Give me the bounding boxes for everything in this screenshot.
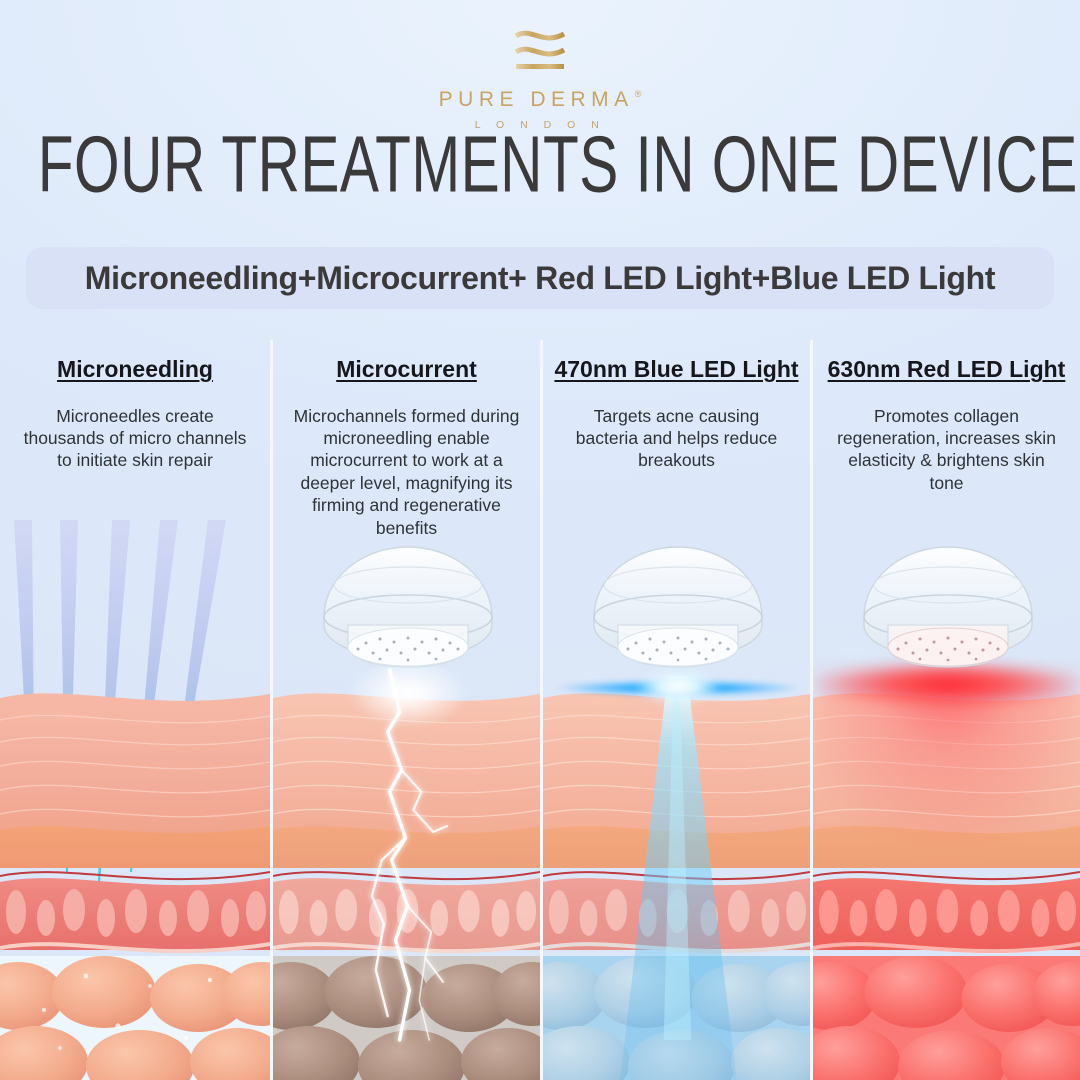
- treatments-banner: Microneedling+Microcurrent+ Red LED Ligh…: [26, 247, 1054, 309]
- column-title: 630nm Red LED Light: [823, 356, 1070, 383]
- brand-name: PURE DERMA ®: [439, 88, 642, 112]
- brand-lockup: PURE DERMA ® L O N D O N: [0, 22, 1080, 131]
- column-description: Microchannels formed during microneedlin…: [283, 405, 530, 539]
- column-microcurrent[interactable]: Microcurrent Microchannels formed during…: [270, 340, 540, 1080]
- skin-cross-section: [543, 680, 810, 1080]
- column-description: Promotes collagen regeneration, increase…: [823, 405, 1070, 495]
- skin-cross-section: [0, 680, 270, 1080]
- three-wave-lines-icon: [492, 22, 588, 84]
- column-red-led[interactable]: 630nm Red LED Light Promotes collagen re…: [810, 340, 1080, 1080]
- column-header: 630nm Red LED Light Promotes collagen re…: [813, 340, 1080, 494]
- column-header: Microneedling Microneedles create thousa…: [0, 340, 270, 472]
- device-head-icon: [308, 525, 508, 670]
- column-description: Targets acne causing bacteria and helps …: [553, 405, 800, 472]
- device-head-icon: [848, 525, 1048, 670]
- blue-light-core: [635, 666, 721, 706]
- column-title: Microneedling: [10, 356, 260, 383]
- registered-mark: ®: [635, 89, 642, 99]
- column-title: 470nm Blue LED Light: [553, 356, 800, 383]
- brand-name-text: PURE DERMA: [439, 88, 634, 112]
- column-header: Microcurrent Microchannels formed during…: [273, 340, 540, 539]
- device-head-icon: [578, 525, 778, 670]
- infographic-canvas: PURE DERMA ® L O N D O N FOUR TREATMENTS…: [0, 0, 1080, 1080]
- column-microneedling[interactable]: Microneedling Microneedles create thousa…: [0, 340, 270, 1080]
- column-description: Microneedles create thousands of micro c…: [10, 405, 260, 472]
- treatments-banner-text: Microneedling+Microcurrent+ Red LED Ligh…: [85, 260, 995, 297]
- column-header: 470nm Blue LED Light Targets acne causin…: [543, 340, 810, 472]
- skin-cross-section: [273, 680, 540, 1080]
- column-blue-led[interactable]: 470nm Blue LED Light Targets acne causin…: [540, 340, 810, 1080]
- column-title: Microcurrent: [283, 356, 530, 383]
- treatment-columns: Microneedling Microneedles create thousa…: [0, 340, 1080, 1080]
- page-title: FOUR TREATMENTS IN ONE DEVICE: [38, 126, 1042, 205]
